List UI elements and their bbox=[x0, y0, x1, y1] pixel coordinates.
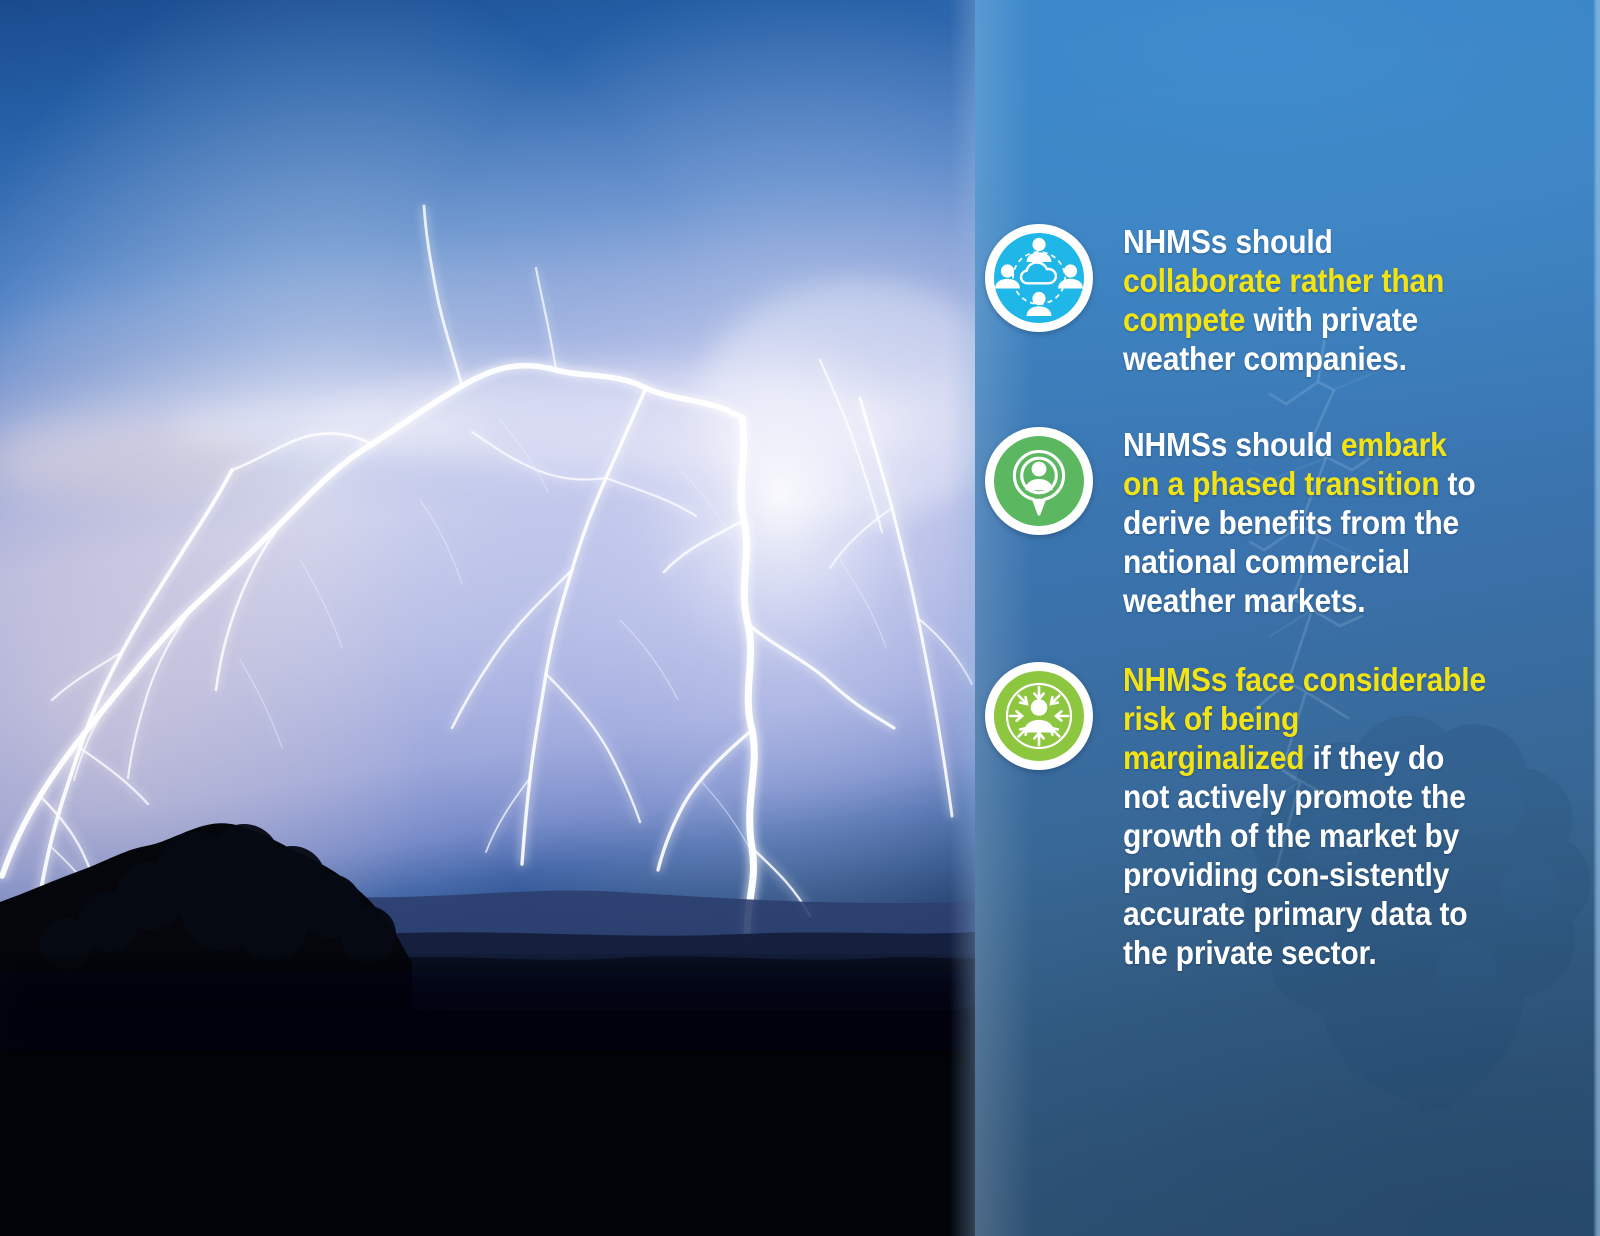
text-segment: NHMSs should bbox=[1123, 223, 1333, 260]
text-segment: NHMSs should bbox=[1123, 426, 1341, 463]
person-surrounded-by-arrows-icon bbox=[983, 660, 1095, 772]
key-message-text-1: NHMSs should collaborate rather than com… bbox=[1123, 222, 1487, 378]
collaboration-cloud-network-icon bbox=[983, 222, 1095, 334]
infographic-page: NHMSs should collaborate rather than com… bbox=[0, 0, 1600, 1236]
key-message-text-3: NHMSs face considerable risk of being ma… bbox=[1123, 660, 1487, 972]
key-messages-list: NHMSs should collaborate rather than com… bbox=[975, 0, 1600, 1236]
key-message-text-2: NHMSs should embark on a phased transiti… bbox=[1123, 425, 1487, 620]
lightning-storm-photo bbox=[0, 0, 975, 1236]
key-message-item-1: NHMSs should collaborate rather than com… bbox=[983, 222, 1523, 378]
key-message-item-3: NHMSs face considerable risk of being ma… bbox=[983, 660, 1523, 972]
key-message-item-2: NHMSs should embark on a phased transiti… bbox=[983, 425, 1523, 620]
location-pin-person-icon bbox=[983, 425, 1095, 537]
